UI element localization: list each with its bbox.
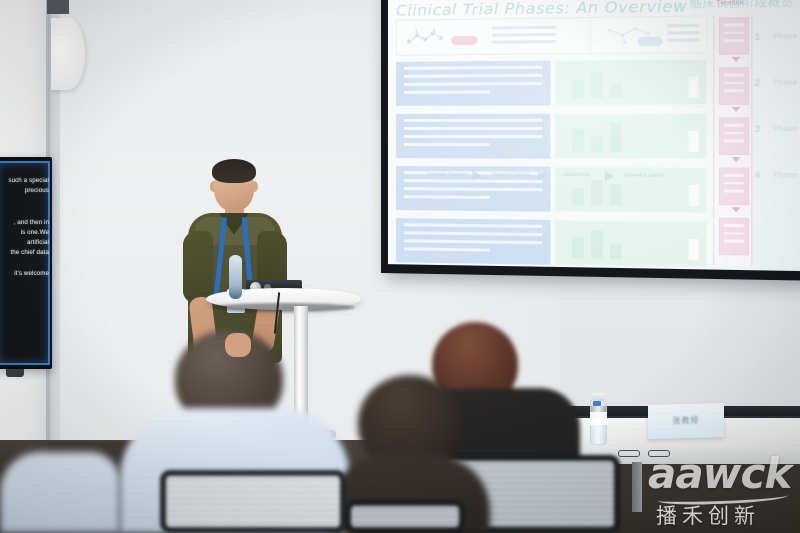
slide: Clinical Trial Phases: An Overview 临床试验阶… — [388, 0, 800, 272]
watermark-chinese-text: 播禾创新 — [656, 500, 760, 530]
phase-label: Phase I Safety & D — [773, 30, 800, 40]
monitor-line: the chief data — [0, 248, 49, 258]
phase-list-item: 4 Phase IV Post-Ma — [755, 157, 800, 204]
slide-chart-marker — [688, 76, 700, 99]
slide-phase-row — [396, 59, 707, 106]
phase-number: 1 — [755, 31, 760, 42]
slide-chart-marker — [688, 238, 700, 261]
bottle-label-accent — [593, 401, 601, 406]
timeline-label: Timeline — [717, 0, 744, 7]
arrow-down-icon — [732, 157, 741, 162]
chevron-right-icon — [472, 170, 481, 180]
slide-cell-description — [396, 218, 551, 265]
side-monitor: such a special precious , and then in is… — [0, 157, 52, 369]
name-card-text: 张教授 — [648, 414, 724, 427]
audience-body — [0, 452, 120, 533]
slide-hero-panel-right — [590, 15, 707, 54]
chair-back — [160, 470, 346, 533]
monitor-line: such a special — [0, 176, 49, 186]
monitor-stand — [6, 369, 24, 377]
monitor-line: , and then in — [0, 218, 49, 228]
timeline-chip — [719, 167, 749, 205]
phase-list-item: 3 Phase III Large Sc — [755, 111, 800, 158]
arrow-down-icon — [732, 57, 741, 62]
slide-bullet-group — [667, 24, 699, 46]
timeline-chip — [719, 218, 749, 256]
flow-node: Approval & Launch — [619, 167, 668, 186]
slide-cell-chart — [555, 59, 707, 105]
ceiling-speaker — [51, 18, 85, 90]
phase-list-item: 2 Phase II Efficacy — [755, 64, 800, 111]
flow-node: Clinical Trials — [553, 167, 601, 186]
slide-cell-description — [396, 61, 551, 106]
projection-screen: Clinical Trial Phases: An Overview 临床试验阶… — [381, 0, 800, 281]
slide-chart-marker — [688, 130, 700, 153]
slide-phase-row — [396, 113, 707, 159]
arrow-down-icon — [732, 207, 741, 212]
bottle-label — [590, 412, 607, 425]
name-card: 张教授 — [648, 403, 724, 439]
phase-label: Phase IV Post-Ma — [773, 170, 800, 180]
presenter-sleeve-left — [183, 231, 213, 303]
molecule-icon — [405, 27, 451, 50]
slide-body: Discovery Research Preclinical Testing C… — [396, 14, 800, 272]
podium-underside — [212, 303, 355, 312]
conference-room-photo: such a special precious , and then in is… — [0, 0, 800, 533]
phase-number: 3 — [755, 124, 760, 134]
watermark-logo: aawck — [648, 452, 798, 496]
bottle-cap — [592, 393, 605, 401]
slide-process-flow: Discovery Research Preclinical Testing C… — [424, 166, 683, 188]
slide-cell-description — [396, 114, 551, 159]
monitor-line: it's welcome — [0, 269, 49, 279]
slide-phase-list: 1 Phase I Safety & D 2 Phase II Efficacy… — [755, 18, 800, 204]
phase-number: 2 — [755, 78, 760, 89]
flow-node: Preclinical Testing — [487, 166, 534, 185]
monitor-screen: such a special precious , and then in is… — [0, 157, 52, 369]
phase-list-item: 1 Phase I Safety & D — [755, 18, 800, 65]
chevron-right-icon — [538, 171, 547, 181]
monitor-line: precious — [0, 186, 49, 196]
arrow-down-icon — [732, 107, 741, 112]
timeline-chip — [719, 117, 749, 155]
cloud-icon — [637, 37, 662, 47]
chair-back — [345, 500, 465, 533]
microphone — [229, 255, 242, 299]
timeline-chip — [719, 67, 749, 105]
presenter-hands — [225, 333, 251, 357]
phase-label: Phase II Efficacy — [773, 77, 800, 87]
watermark: aawck 播禾创新 — [648, 452, 798, 530]
phase-number: 4 — [755, 170, 760, 181]
slide-timeline-column: Timeline — [713, 15, 752, 266]
chevron-right-icon — [605, 171, 614, 181]
pill-icon — [451, 36, 477, 45]
table-leg — [632, 462, 642, 512]
audience-member-far-left — [0, 452, 120, 533]
presenter-hair — [212, 159, 256, 183]
ceiling-mount-bracket — [47, 0, 69, 14]
flow-node: Discovery Research — [424, 166, 470, 184]
screen-surface: Clinical Trial Phases: An Overview 临床试验阶… — [388, 0, 800, 272]
slide-chart-marker — [688, 184, 700, 207]
monitor-line: artificial — [0, 238, 49, 248]
slide-phase-row — [396, 218, 707, 267]
slide-cell-chart — [555, 220, 707, 267]
phase-label: Phase III Large Sc — [773, 124, 800, 134]
timeline-chip — [719, 17, 749, 55]
slide-cell-chart — [555, 113, 707, 159]
monitor-line: is one.We — [0, 228, 49, 238]
slide-bullet-group — [492, 26, 556, 48]
